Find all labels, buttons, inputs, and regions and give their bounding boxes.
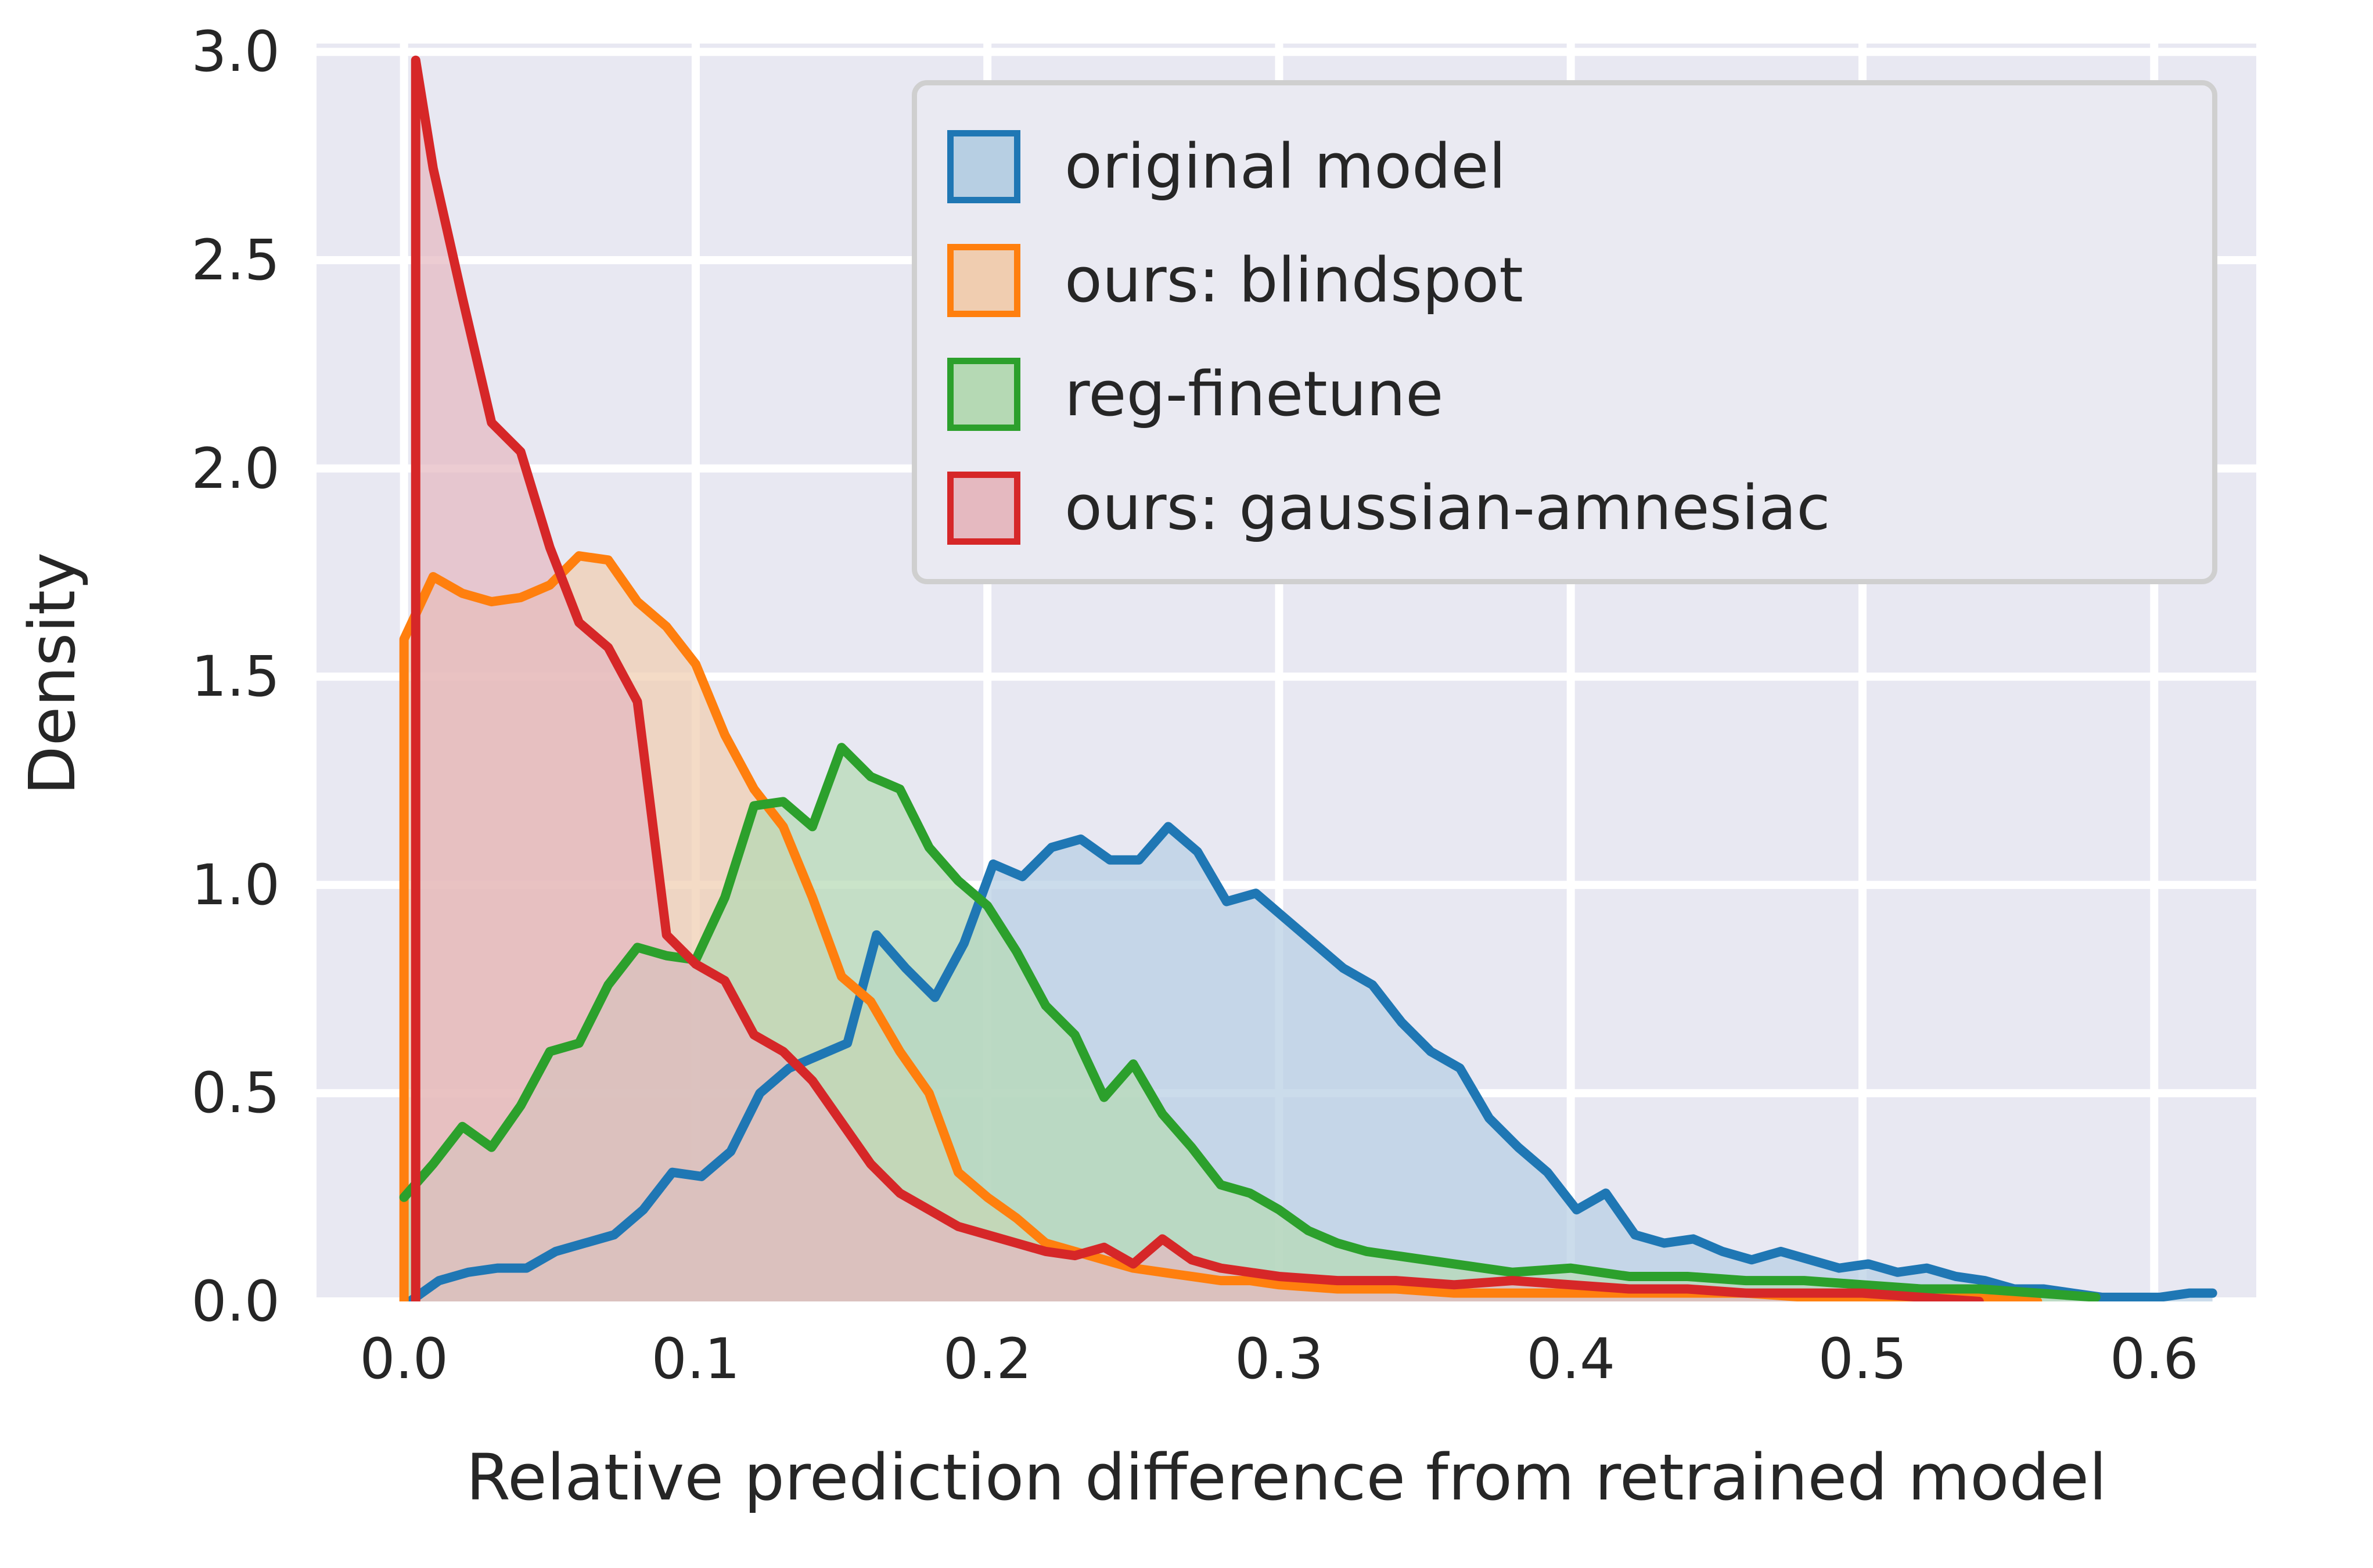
y-tick-label: 2.0 [191,441,280,497]
x-tick-label: 0.0 [359,1331,448,1387]
y-axis-label: Density [15,552,89,795]
legend-item[interactable]: original model [947,110,2212,224]
y-tick-label: 0.0 [191,1274,280,1329]
chart-page: 0.00.10.20.30.40.50.6 0.00.51.01.52.02.5… [0,0,2373,1568]
legend-item[interactable]: reg-finetune [947,337,2212,451]
x-tick-label: 0.3 [1235,1331,1324,1387]
y-tick-label: 2.5 [191,232,280,288]
x-tick-label: 0.4 [1526,1331,1615,1387]
y-tick-label: 1.0 [191,857,280,913]
x-tick-label: 0.6 [2110,1331,2199,1387]
legend-item[interactable]: ours: gaussian-amnesiac [947,451,2212,565]
legend-item-label: reg-finetune [1065,364,1443,425]
legend-swatch-icon [947,130,1020,203]
x-tick-label: 0.5 [1818,1331,1907,1387]
legend-item-label: ours: gaussian-amnesiac [1065,477,1830,539]
x-axis-label: Relative prediction difference from retr… [466,1440,2106,1515]
x-tick-label: 0.2 [943,1331,1032,1387]
y-tick-label: 3.0 [191,24,280,80]
legend-swatch-icon [947,472,1020,545]
chart-legend: original modelours: blindspotreg-finetun… [912,80,2217,584]
y-tick-label: 1.5 [191,649,280,704]
x-tick-label: 0.1 [652,1331,740,1387]
y-tick-label: 0.5 [191,1065,280,1121]
legend-swatch-icon [947,244,1020,317]
legend-item[interactable]: ours: blindspot [947,224,2212,337]
legend-item-label: original model [1065,136,1506,197]
legend-swatch-icon [947,358,1020,431]
legend-item-label: ours: blindspot [1065,250,1523,311]
